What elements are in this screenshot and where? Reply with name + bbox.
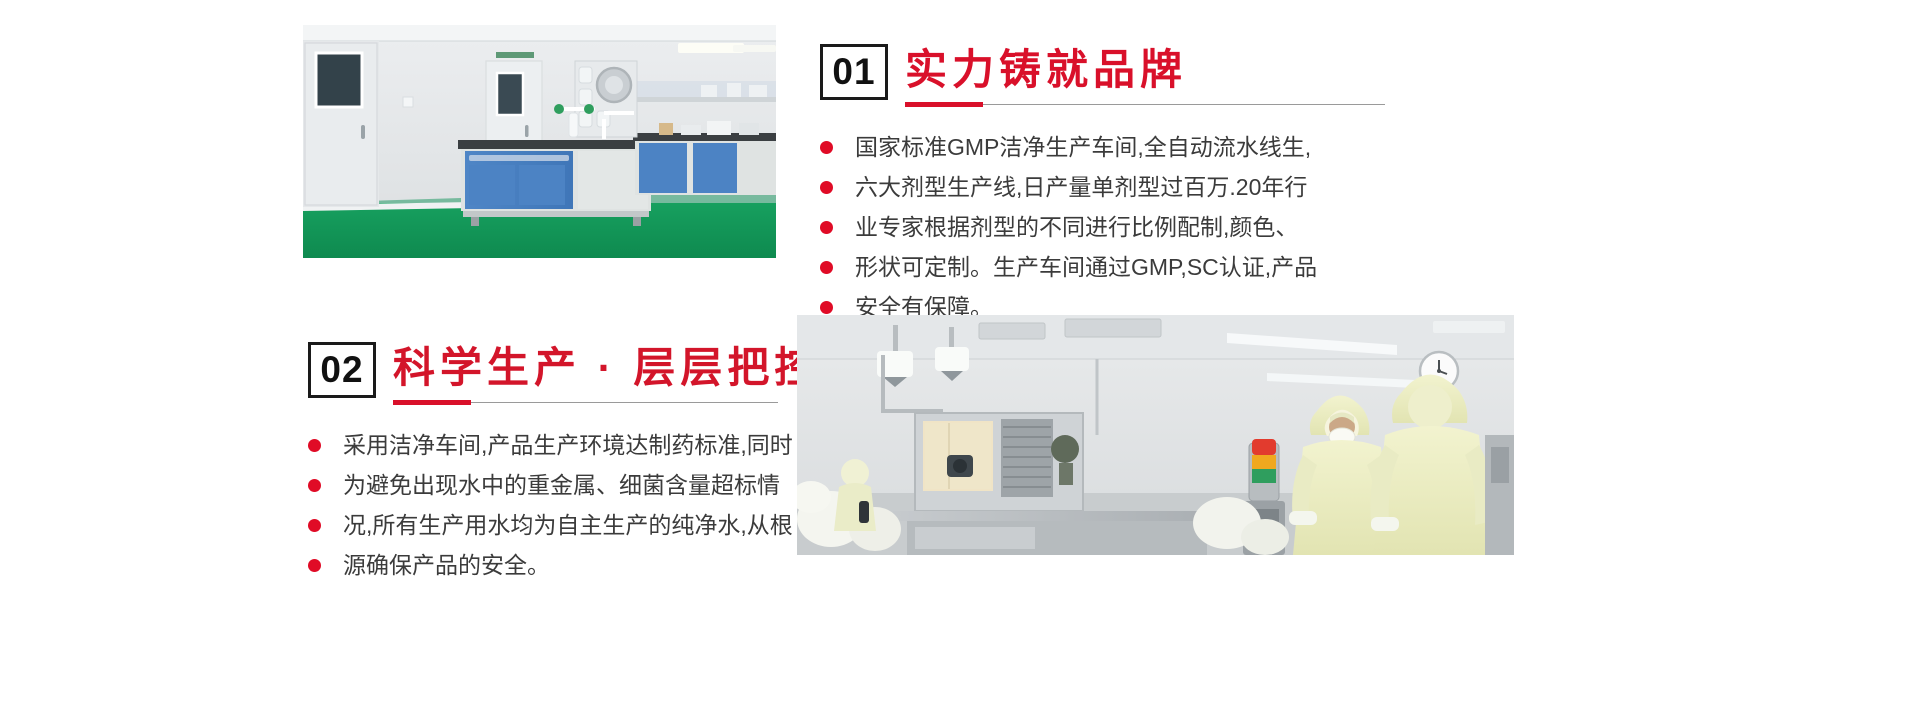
production-workers-illustration bbox=[797, 315, 1514, 555]
section-two-heading: 02 科学生产 · 层层把控 bbox=[308, 342, 821, 406]
bullet-dot-icon bbox=[820, 221, 833, 234]
bullet-text: 源确保产品的安全。 bbox=[343, 548, 550, 583]
bullet-dot-icon bbox=[820, 301, 833, 314]
bullet-item: 业专家根据剂型的不同进行比例配制,颜色、 bbox=[820, 210, 1317, 245]
section-title: 实力铸就品牌 bbox=[905, 44, 1187, 96]
underline-red-segment bbox=[393, 400, 471, 405]
bullet-dot-icon bbox=[308, 479, 321, 492]
bullet-item: 采用洁净车间,产品生产环境达制药标准,同时 bbox=[308, 428, 821, 463]
bullet-dot-icon bbox=[308, 559, 321, 572]
section-title: 科学生产 · 层层把控 bbox=[393, 342, 821, 394]
section-one-bullet-list: 国家标准GMP洁净生产车间,全自动流水线生,六大剂型生产线,日产量单剂型过百万.… bbox=[820, 130, 1317, 325]
bullet-text: 形状可定制。生产车间通过GMP,SC认证,产品 bbox=[855, 250, 1317, 285]
section-one-text: 01 实力铸就品牌 国家标准GMP洁净生产车间,全自动流水线生,六大剂型生产线,… bbox=[820, 44, 1317, 330]
bullet-text: 况,所有生产用水均为自主生产的纯净水,从根 bbox=[343, 508, 793, 543]
lab-cleanroom-illustration bbox=[303, 25, 776, 258]
bullet-text: 采用洁净车间,产品生产环境达制药标准,同时 bbox=[343, 428, 793, 463]
bullet-item: 国家标准GMP洁净生产车间,全自动流水线生, bbox=[820, 130, 1317, 165]
production-workers-photo bbox=[797, 315, 1514, 555]
section-one-heading: 01 实力铸就品牌 bbox=[820, 44, 1317, 108]
section-two-text: 02 科学生产 · 层层把控 采用洁净车间,产品生产环境达制药标准,同时为避免出… bbox=[308, 342, 821, 588]
title-underline bbox=[905, 102, 1187, 108]
bullet-dot-icon bbox=[820, 261, 833, 274]
bullet-dot-icon bbox=[308, 519, 321, 532]
section-two-bullet-list: 采用洁净车间,产品生产环境达制药标准,同时为避免出现水中的重金属、细菌含量超标情… bbox=[308, 428, 821, 583]
bullet-item: 况,所有生产用水均为自主生产的纯净水,从根 bbox=[308, 508, 821, 543]
bullet-item: 为避免出现水中的重金属、细菌含量超标情 bbox=[308, 468, 821, 503]
bullet-item: 源确保产品的安全。 bbox=[308, 548, 821, 583]
bullet-text: 业专家根据剂型的不同进行比例配制,颜色、 bbox=[855, 210, 1298, 245]
bullet-item: 形状可定制。生产车间通过GMP,SC认证,产品 bbox=[820, 250, 1317, 285]
bullet-dot-icon bbox=[308, 439, 321, 452]
bullet-text: 为避免出现水中的重金属、细菌含量超标情 bbox=[343, 468, 780, 503]
bullet-text: 国家标准GMP洁净生产车间,全自动流水线生, bbox=[855, 130, 1311, 165]
title-underline bbox=[393, 400, 821, 406]
promo-page: 01 实力铸就品牌 国家标准GMP洁净生产车间,全自动流水线生,六大剂型生产线,… bbox=[0, 0, 1920, 716]
bullet-text: 六大剂型生产线,日产量单剂型过百万.20年行 bbox=[855, 170, 1307, 205]
bullet-dot-icon bbox=[820, 141, 833, 154]
section-number-badge: 01 bbox=[820, 44, 888, 100]
section-number-badge: 02 bbox=[308, 342, 376, 398]
bullet-item: 六大剂型生产线,日产量单剂型过百万.20年行 bbox=[820, 170, 1317, 205]
lab-cleanroom-photo bbox=[303, 25, 776, 258]
bullet-dot-icon bbox=[820, 181, 833, 194]
underline-red-segment bbox=[905, 102, 983, 107]
